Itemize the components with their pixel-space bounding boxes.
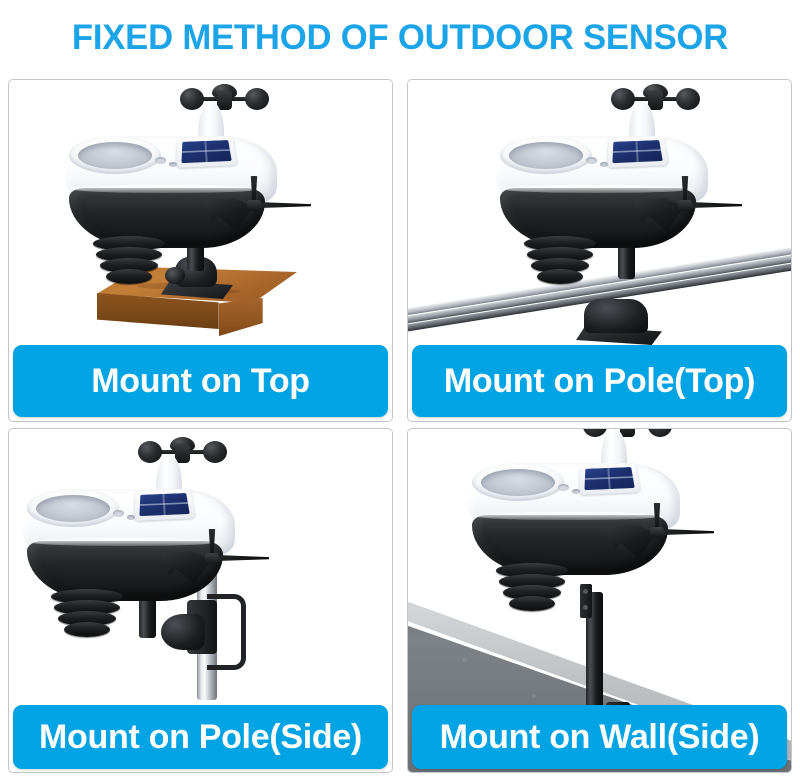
wind-vane-tail	[690, 202, 742, 208]
wind-vane	[179, 529, 271, 587]
sensor-port	[113, 510, 124, 517]
clamp-knuckle	[584, 299, 648, 333]
sensor-port	[127, 515, 135, 520]
anemometer-cup	[583, 429, 607, 437]
anemometer-cup	[138, 441, 162, 463]
rain-funnel-opening	[509, 142, 583, 169]
anemometer-cup	[245, 88, 269, 110]
outdoor-weather-sensor	[462, 429, 692, 611]
radiation-shield	[524, 236, 596, 286]
page-title: FIXED METHOD OF OUTDOOR SENSOR	[4, 18, 796, 58]
radiation-shield	[496, 563, 568, 613]
anemometer-cup	[676, 88, 700, 110]
sensor-port	[155, 157, 166, 164]
panel-mount-on-pole-top[interactable]: Mount on Pole(Top)	[407, 79, 792, 422]
rain-funnel-opening	[78, 142, 152, 169]
wind-vane	[624, 503, 716, 561]
wind-vane-mast	[249, 176, 259, 202]
anemometer-cup	[648, 429, 672, 437]
wind-vane-pivot	[205, 553, 219, 564]
wall-texture	[462, 658, 467, 662]
pole-clamp-bracket	[576, 299, 662, 347]
sensor-port	[600, 162, 608, 167]
solar-cell	[584, 467, 634, 490]
wind-vane-tail	[662, 529, 714, 535]
wind-vane	[652, 176, 744, 234]
outdoor-weather-sensor	[59, 84, 289, 284]
shield-plate	[509, 596, 555, 611]
solar-panel	[607, 136, 669, 168]
wooden-block-side	[219, 298, 297, 336]
anemometer-cups	[179, 84, 271, 118]
panel-mount-on-pole-side[interactable]: Mount on Pole(Side)	[8, 428, 393, 773]
anemometer-cup	[203, 441, 227, 463]
solar-panel	[176, 136, 238, 168]
rain-funnel-opening	[36, 495, 110, 522]
shield-plate	[64, 622, 110, 637]
anemometer-cup	[180, 88, 204, 110]
solar-cell	[181, 140, 231, 163]
panel-mount-on-top[interactable]: Mount on Top	[8, 79, 393, 422]
anemometer-cups	[137, 437, 229, 471]
radiation-shield	[51, 589, 123, 639]
solar-panel	[579, 463, 641, 495]
anemometer-hub	[175, 444, 190, 463]
solar-cell	[139, 493, 189, 516]
outdoor-weather-sensor	[490, 84, 720, 284]
solar-cell	[612, 140, 662, 163]
anemometer-cups	[582, 429, 674, 445]
shield-plate	[537, 269, 583, 284]
sensor-port	[558, 484, 569, 491]
anemometer-hub	[217, 91, 232, 110]
wind-vane-pivot	[650, 527, 664, 538]
panel-caption-mount-on-pole-side: Mount on Pole(Side)	[13, 705, 388, 769]
solar-panel	[134, 489, 196, 521]
wind-vane-tail	[259, 202, 311, 208]
shield-plate	[106, 269, 152, 284]
mounting-methods-grid: Mount on Top	[8, 79, 792, 773]
panel-mount-on-wall-side[interactable]: Mount on Wall(Side)	[407, 428, 792, 773]
rain-funnel-opening	[481, 469, 555, 496]
anemometer-hub	[648, 91, 663, 110]
wind-vane-mast	[207, 529, 217, 555]
wind-vane-mast	[680, 176, 690, 202]
wind-vane-mast	[652, 503, 662, 529]
panel-caption-mount-on-wall-side: Mount on Wall(Side)	[412, 705, 787, 769]
wind-vane	[221, 176, 313, 234]
outdoor-weather-sensor	[17, 437, 247, 637]
wall-texture	[532, 694, 536, 698]
anemometer-cup	[611, 88, 635, 110]
panel-caption-mount-on-top: Mount on Top	[13, 345, 388, 417]
wind-vane-tail	[217, 555, 269, 561]
anemometer-cups	[610, 84, 702, 118]
sensor-port	[586, 157, 597, 164]
panel-caption-mount-on-pole-top: Mount on Pole(Top)	[412, 345, 787, 417]
wind-vane-pivot	[247, 200, 261, 211]
radiation-shield	[93, 236, 165, 286]
wind-vane-pivot	[678, 200, 692, 211]
sensor-port	[169, 162, 177, 167]
sensor-port	[572, 489, 580, 494]
